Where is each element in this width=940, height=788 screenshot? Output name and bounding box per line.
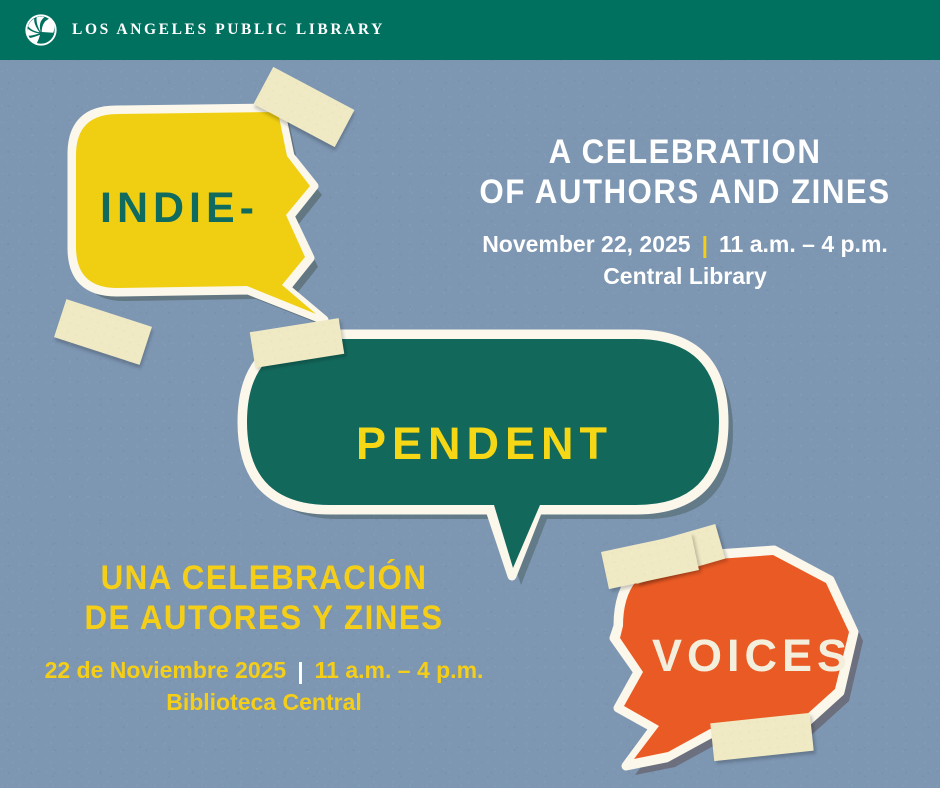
event-time-spanish: 11 a.m. – 4 p.m.: [315, 657, 484, 683]
event-venue-english: Central Library: [440, 262, 930, 291]
event-date-spanish: 22 de Noviembre 2025: [45, 657, 287, 683]
event-details-english: A CELEBRATION OF AUTHORS AND ZINES Novem…: [440, 132, 930, 291]
event-venue-spanish: Biblioteca Central: [10, 688, 518, 717]
event-poster: LOS ANGELES PUBLIC LIBRARY INDIE-: [0, 0, 940, 788]
event-date-english: November 22, 2025: [482, 231, 690, 257]
lapl-sunburst-logo-icon[interactable]: [24, 13, 58, 47]
event-meta-english: November 22, 2025|11 a.m. – 4 p.m. Centr…: [440, 230, 930, 291]
library-wordmark: LOS ANGELES PUBLIC LIBRARY: [72, 21, 385, 39]
headline-spanish-line-1: UNA CELEBRACIÓN: [30, 558, 497, 598]
library-header-bar: LOS ANGELES PUBLIC LIBRARY: [0, 0, 940, 60]
event-meta-spanish: 22 de Noviembre 2025|11 a.m. – 4 p.m. Bi…: [10, 656, 518, 717]
headline-english-line-2: OF AUTHORS AND ZINES: [460, 172, 911, 212]
poster-stage: INDIE- PENDENT VOICES: [0, 60, 940, 788]
event-details-spanish: UNA CELEBRACIÓN DE AUTORES Y ZINES 22 de…: [10, 558, 518, 717]
date-time-line-english: November 22, 2025|11 a.m. – 4 p.m.: [440, 230, 930, 259]
event-time-english: 11 a.m. – 4 p.m.: [719, 231, 888, 257]
headline-english-line-1: A CELEBRATION: [460, 132, 911, 172]
detail-separator-english: |: [702, 231, 708, 260]
date-time-line-spanish: 22 de Noviembre 2025|11 a.m. – 4 p.m.: [10, 656, 518, 685]
headline-spanish-line-2: DE AUTORES Y ZINES: [30, 598, 497, 638]
detail-separator-spanish: |: [297, 657, 303, 686]
